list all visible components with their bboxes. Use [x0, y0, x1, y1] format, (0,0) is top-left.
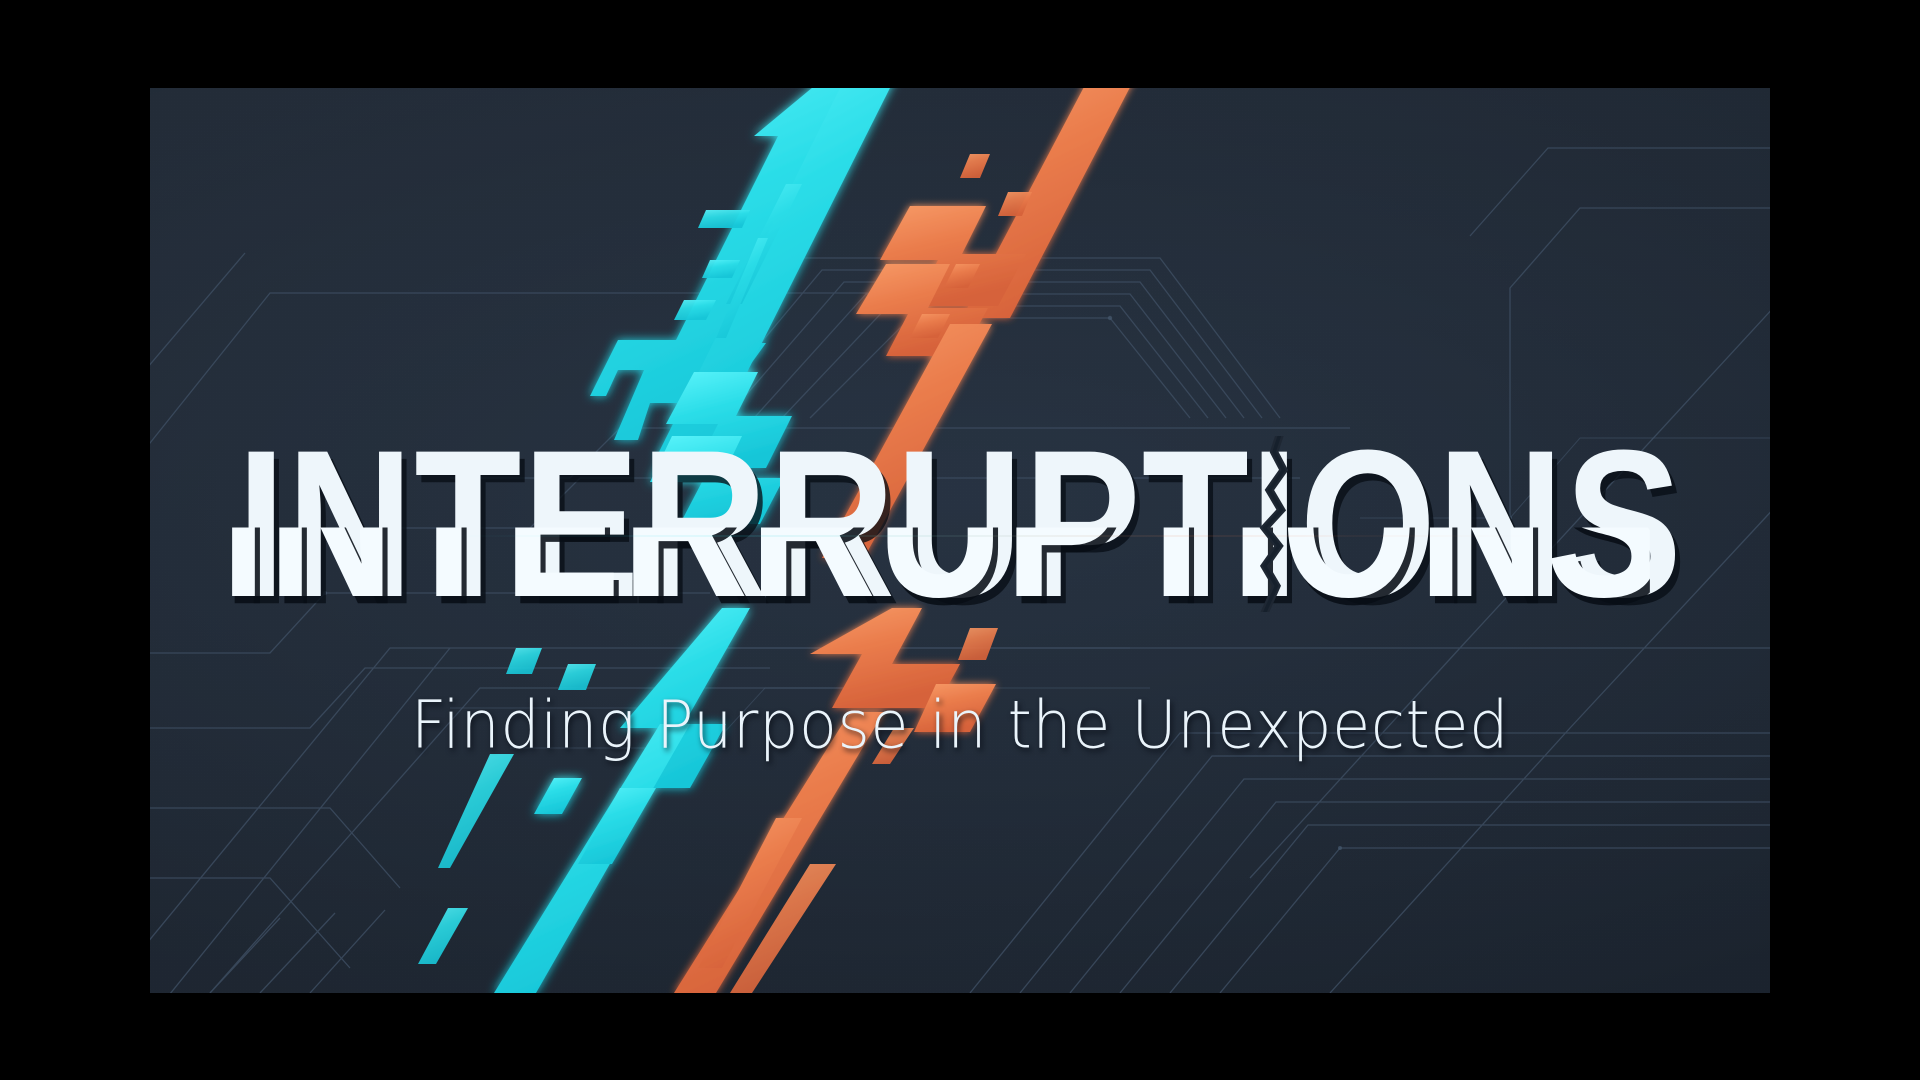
page-subtitle: Finding Purpose in the Unexpected — [411, 686, 1509, 763]
panel-gradient-overlay — [150, 88, 1770, 993]
panel-grain-overlay — [150, 88, 1770, 993]
title-layer-lower-glitch: INTERRUPTIONS — [232, 436, 1650, 612]
orange-shards-upper — [910, 154, 1032, 338]
subtitle-block: Finding Purpose in the Unexpected — [150, 688, 1770, 761]
orange-glitch-bolt-upper — [822, 88, 1140, 558]
page-title: INTERRUPTIONS — [237, 417, 1683, 632]
content-panel: INTERRUPTIONS INTERRUPTIONS Finding Purp… — [150, 88, 1770, 993]
title-layer-upper: INTERRUPTIONS — [251, 436, 1669, 612]
circuit-trace-pattern — [150, 88, 1770, 993]
title-block: INTERRUPTIONS INTERRUPTIONS — [150, 436, 1770, 612]
cyan-glitch-bolt-upper — [590, 88, 900, 524]
cyan-shards-lower — [418, 648, 596, 964]
page-title-glitch-copy: INTERRUPTIONS — [218, 417, 1664, 632]
slide-canvas: INTERRUPTIONS INTERRUPTIONS Finding Purp… — [0, 0, 1920, 1080]
orange-shards-lower — [730, 628, 998, 993]
cyan-shards-upper — [674, 184, 802, 338]
title-glitch-seam — [166, 535, 1754, 537]
title-glitch-wrap: INTERRUPTIONS INTERRUPTIONS — [251, 436, 1669, 612]
broken-letter-o-crack — [251, 436, 1669, 612]
glitch-bolts-layer — [150, 88, 1770, 993]
orange-glitch-bolt-lower — [674, 608, 996, 993]
cyan-glitch-bolt-lower — [494, 608, 750, 993]
